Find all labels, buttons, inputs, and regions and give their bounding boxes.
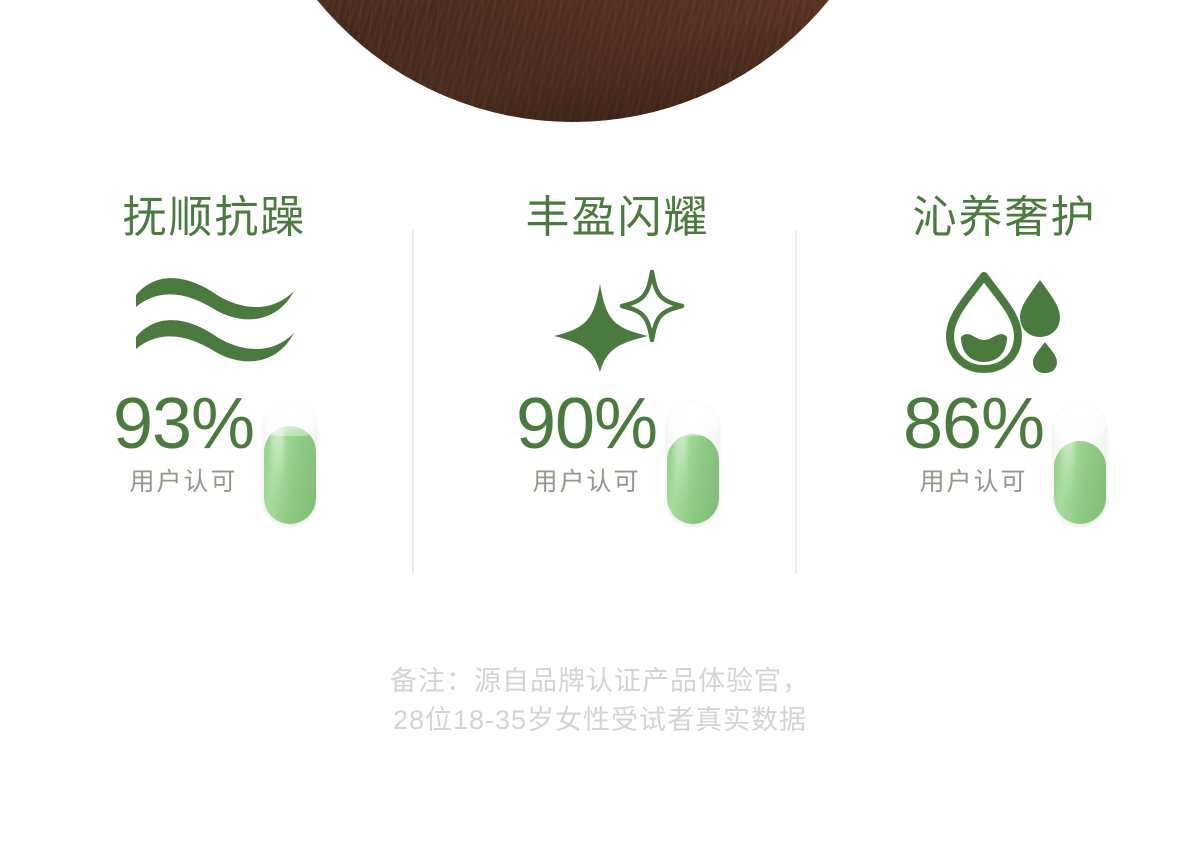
feature-column-shine: 丰盈闪耀 90% 用户认可 [425, 196, 810, 524]
feature-icon-slot [940, 258, 1070, 388]
stat-text: 93% 用户认可 [113, 390, 254, 498]
stat-text: 90% 用户认可 [516, 390, 657, 498]
footnote-line-1: 备注：源自品牌认证产品体验官， [0, 662, 1200, 701]
footnote: 备注：源自品牌认证产品体验官， 28位18-35岁女性受试者真实数据 [0, 662, 1200, 740]
stat-row: 93% 用户认可 [113, 390, 316, 524]
stat-percent: 86% [903, 390, 1044, 458]
hero-banner [0, 0, 1200, 130]
capsule-gloss [271, 410, 284, 506]
stat-row: 86% 用户认可 [903, 390, 1106, 524]
stat-label: 用户认可 [919, 462, 1027, 498]
feature-icon-slot [548, 258, 688, 388]
stat-percent: 90% [516, 390, 657, 458]
feature-column-nourish: 沁养奢护 86% 用户认可 [812, 196, 1197, 524]
stat-label: 用户认可 [129, 462, 237, 498]
capsule-gloss [1061, 410, 1074, 506]
stat-percent: 93% [113, 390, 254, 458]
feature-columns: 抚顺抗躁 93% 用户认可 丰盈闪耀 [0, 196, 1200, 596]
feature-icon-slot [130, 258, 300, 388]
capsule-gauge [667, 402, 719, 524]
hair-photo [243, 0, 903, 122]
feature-column-smoothing: 抚顺抗躁 93% 用户认可 [22, 196, 407, 524]
capsule-gauge [1054, 402, 1106, 524]
stat-row: 90% 用户认可 [516, 390, 719, 524]
capsule-gloss [674, 410, 687, 506]
footnote-line-2: 28位18-35岁女性受试者真实数据 [0, 701, 1200, 740]
stat-text: 86% 用户认可 [903, 390, 1044, 498]
sparkle-icon [548, 266, 688, 381]
waves-icon [130, 271, 300, 376]
stat-label: 用户认可 [532, 462, 640, 498]
capsule-gauge [264, 402, 316, 524]
column-divider-1 [412, 230, 414, 574]
feature-title: 沁养奢护 [913, 196, 1097, 240]
droplet-icon [940, 266, 1070, 381]
hair-shading-overlay [243, 0, 903, 122]
feature-title: 丰盈闪耀 [526, 196, 710, 240]
feature-title: 抚顺抗躁 [123, 196, 307, 240]
